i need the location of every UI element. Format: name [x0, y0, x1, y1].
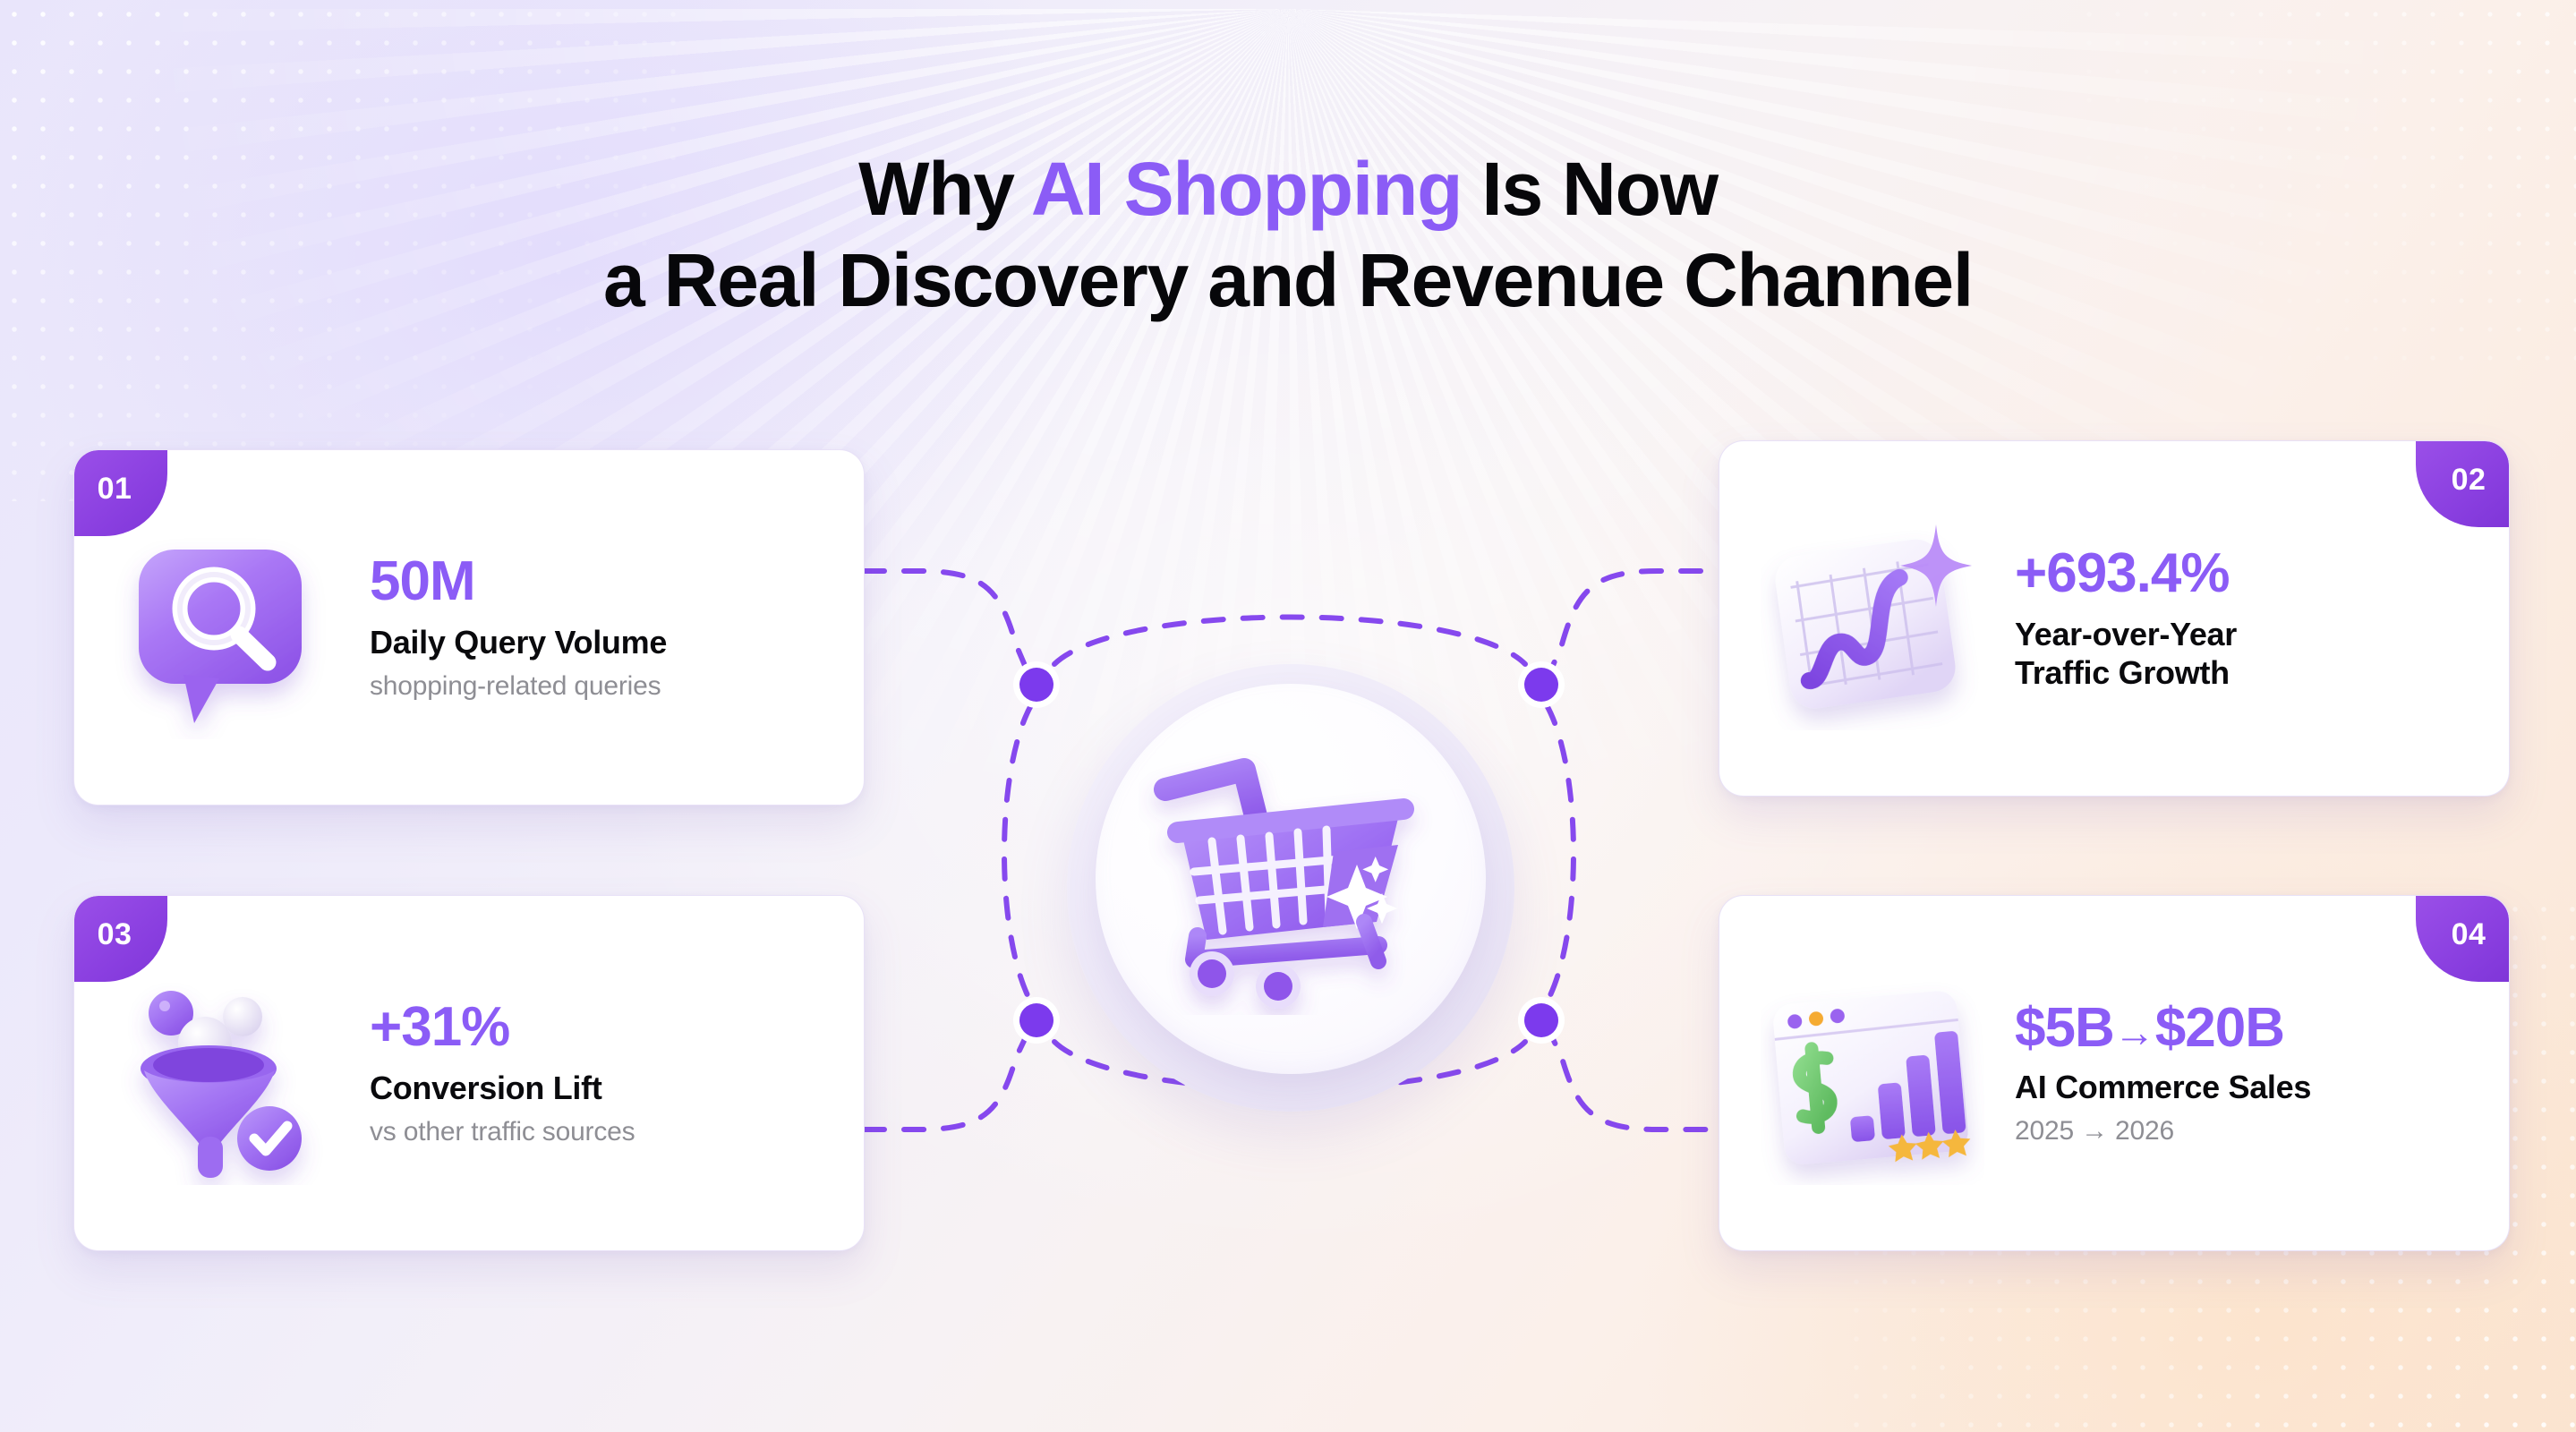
- stat-value-01: 50M: [370, 552, 823, 611]
- stat-sub-04: 2025 → 2026: [2015, 1115, 2468, 1147]
- stat-label-03: Conversion Lift: [370, 1069, 823, 1108]
- stat-value-03: +31%: [370, 998, 823, 1057]
- stat-to-04: $20B: [2155, 997, 2284, 1059]
- line-chart-growth-icon: [1761, 507, 1984, 730]
- shopping-cart-sparkle-icon: [1139, 746, 1443, 1015]
- stat-sub-03: vs other traffic sources: [370, 1116, 823, 1148]
- conversion-funnel-icon: [115, 961, 339, 1185]
- stat-card-03[interactable]: 03: [73, 895, 865, 1251]
- stat-arrow-04: →: [2114, 1009, 2155, 1055]
- stat-value-04: $5B→$20B: [2015, 999, 2468, 1058]
- stat-label-02: Year-over-Year Traffic Growth: [2015, 615, 2468, 693]
- title-line-1: Why AI Shopping Is Now: [858, 147, 1718, 231]
- check-badge: [237, 1106, 302, 1171]
- connector-arc-left: [1004, 705, 1031, 1002]
- search-bubble-icon: [115, 516, 339, 739]
- connector-path-01: [865, 571, 1031, 680]
- card-text-01: 50M Daily Query Volume shopping-related …: [370, 552, 823, 703]
- stat-label-01: Daily Query Volume: [370, 623, 823, 662]
- title-pre: Why: [858, 147, 1031, 231]
- connector-arc-right: [1547, 705, 1574, 1002]
- connector-path-03: [865, 1026, 1031, 1129]
- dollar-icon: [1797, 1047, 1833, 1128]
- title-post: Is Now: [1462, 147, 1718, 231]
- connector-path-04: [1547, 1026, 1717, 1129]
- card-text-04: $5B→$20B AI Commerce Sales 2025 → 2026: [2015, 999, 2468, 1147]
- stat-sub-01: shopping-related queries: [370, 670, 823, 703]
- stat-label-04: AI Commerce Sales: [2015, 1068, 2468, 1107]
- card-text-02: +693.4% Year-over-Year Traffic Growth: [2015, 544, 2468, 693]
- title-accent: AI Shopping: [1031, 147, 1462, 231]
- stat-card-02[interactable]: 02: [1719, 440, 2510, 797]
- stat-card-04[interactable]: 04: [1719, 895, 2510, 1251]
- connector-path-02: [1547, 571, 1717, 680]
- sphere-white-small: [223, 997, 262, 1036]
- stat-value-02: +693.4%: [2015, 544, 2468, 603]
- card-text-03: +31% Conversion Lift vs other traffic so…: [370, 998, 823, 1148]
- stat-card-01[interactable]: 01: [73, 449, 865, 805]
- connector-arc-top: [1054, 618, 1525, 665]
- center-hub: [1067, 664, 1514, 1112]
- stat-from-04: $5B: [2015, 997, 2114, 1059]
- page-title: Why AI Shopping Is Now a Real Discovery …: [0, 143, 2576, 327]
- sales-dashboard-icon: [1761, 961, 1984, 1185]
- title-line-2: a Real Discovery and Revenue Channel: [603, 238, 1973, 322]
